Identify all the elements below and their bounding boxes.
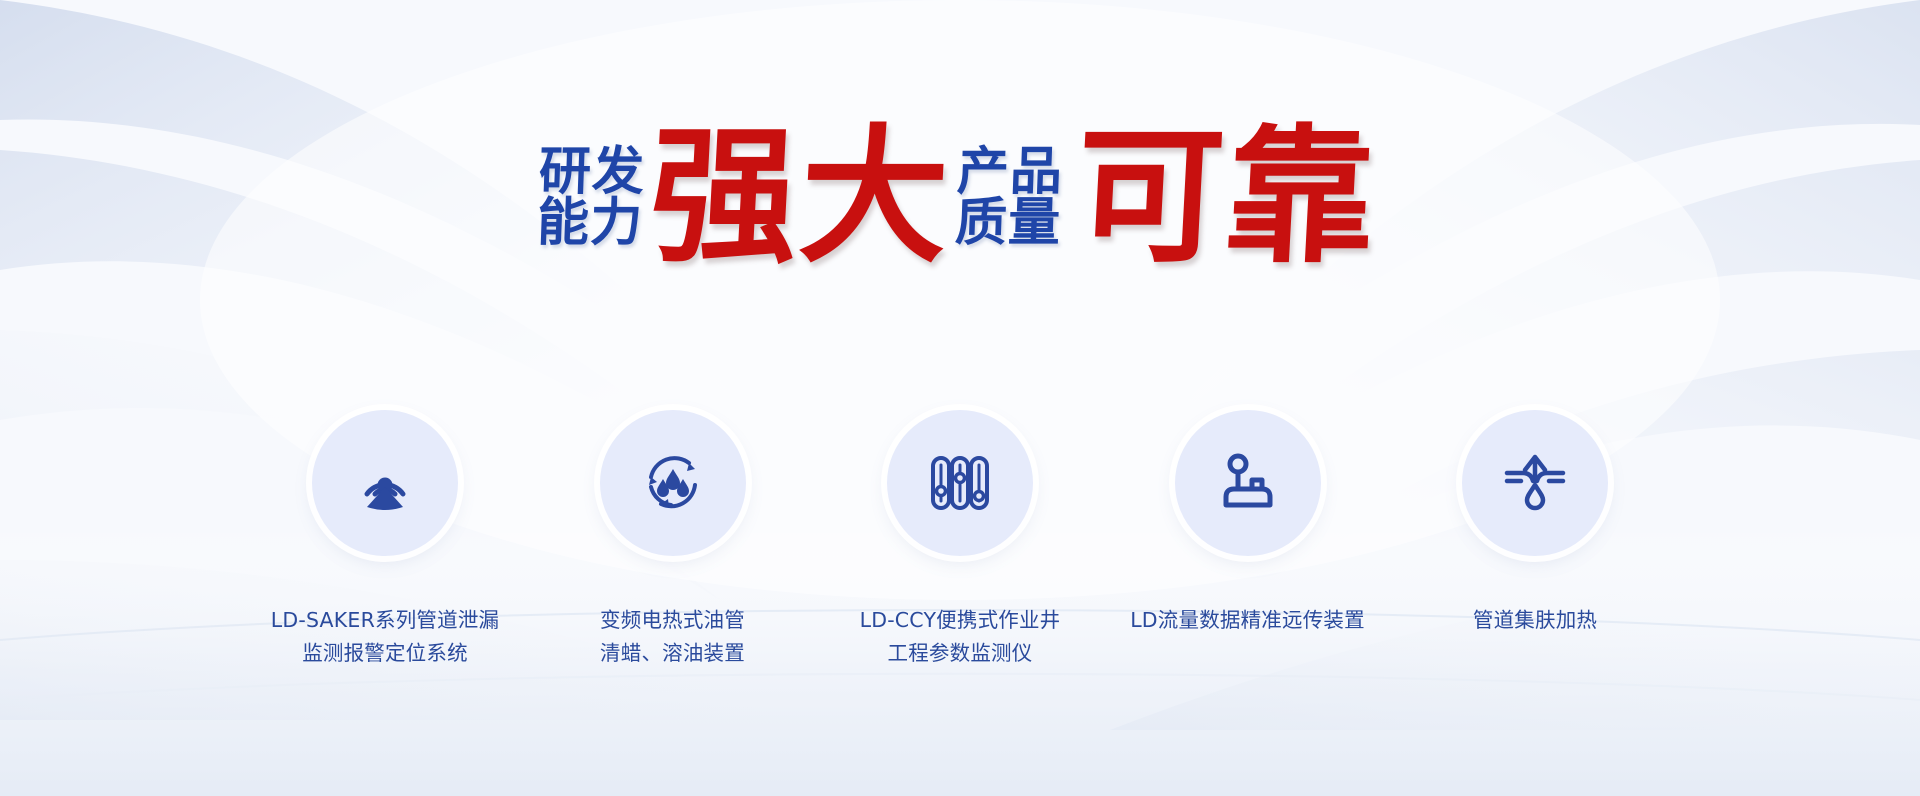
headline-left-line1: 研发 bbox=[538, 147, 646, 198]
headline-emphasis-one: 强大 bbox=[646, 130, 953, 266]
vertical-sliders-icon bbox=[924, 447, 996, 519]
headline-mid-block: 产品 质量 bbox=[954, 147, 1064, 249]
feature-label: LD-CCY便携式作业井 工程参数监测仪 bbox=[860, 604, 1061, 670]
feature-icon-circle bbox=[887, 410, 1033, 556]
feature-icon-circle bbox=[312, 410, 458, 556]
headline-mid-line2: 质量 bbox=[954, 198, 1062, 249]
feature-item-leak-detection[interactable]: LD-SAKER系列管道泄漏 监测报警定位系统 bbox=[260, 410, 510, 670]
signal-antenna-icon bbox=[349, 447, 421, 519]
feature-icon-circle bbox=[1175, 410, 1321, 556]
feature-item-wax-removal[interactable]: 变频电热式油管 清蜡、溶油装置 bbox=[548, 410, 798, 670]
water-drops-recycle-icon bbox=[637, 447, 709, 519]
feature-label: 管道集肤加热 bbox=[1473, 604, 1597, 637]
arrow-up-waterdrop-icon bbox=[1499, 447, 1571, 519]
feature-item-parameter-monitor[interactable]: LD-CCY便携式作业井 工程参数监测仪 bbox=[835, 410, 1085, 670]
feature-icon-circle bbox=[1462, 410, 1608, 556]
feature-label: LD流量数据精准远传装置 bbox=[1130, 604, 1365, 637]
feature-label: 变频电热式油管 清蜡、溶油装置 bbox=[600, 604, 745, 670]
feature-row: LD-SAKER系列管道泄漏 监测报警定位系统 bbox=[260, 410, 1660, 670]
feature-icon-circle bbox=[600, 410, 746, 556]
feature-item-skin-effect-heating[interactable]: 管道集肤加热 bbox=[1410, 410, 1660, 637]
headline: 研发 能力 强大 产品 质量 可靠 bbox=[0, 118, 1920, 278]
headline-emphasis-two: 可靠 bbox=[1072, 130, 1379, 266]
joystick-transmitter-icon bbox=[1212, 447, 1284, 519]
feature-item-flow-telemetry[interactable]: LD流量数据精准远传装置 bbox=[1123, 410, 1373, 637]
headline-mid-line1: 产品 bbox=[956, 147, 1064, 198]
headline-left-line2: 能力 bbox=[536, 198, 644, 249]
headline-left-block: 研发 能力 bbox=[536, 147, 646, 249]
promo-banner: 研发 能力 强大 产品 质量 可靠 LD-SAKER系列管道 bbox=[0, 0, 1920, 796]
feature-label: LD-SAKER系列管道泄漏 监测报警定位系统 bbox=[271, 604, 499, 670]
